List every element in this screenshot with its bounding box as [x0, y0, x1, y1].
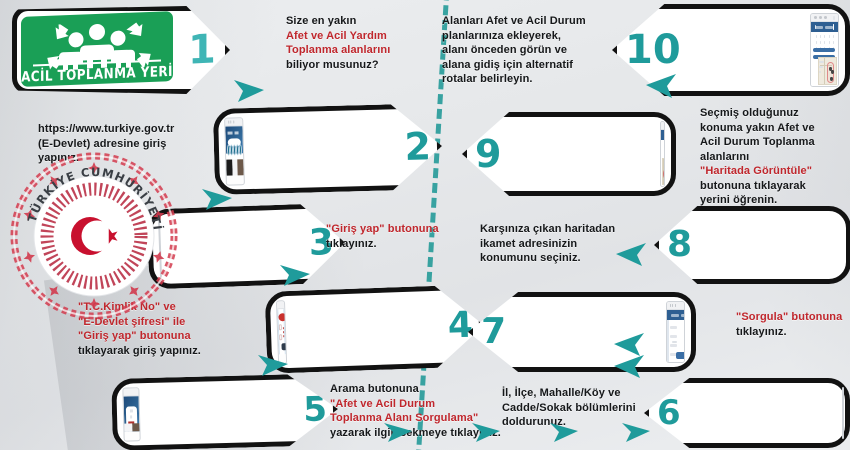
browser-body: [667, 320, 684, 363]
step-6-panel[interactable]: 6: [644, 378, 850, 448]
browser-body: [225, 126, 243, 175]
screenshot-map-table: [810, 13, 839, 87]
step-7-panel[interactable]: 7: [468, 292, 696, 372]
step-5-line-2: "Afet ve Acil Durum: [330, 397, 530, 412]
screenshot-query-form: [666, 301, 685, 363]
step-9-line-7: yerini öğrenin.: [700, 193, 850, 208]
step-9-line-1: Seçmiş olduğunuz: [700, 106, 850, 121]
step-2-line-2: (E-Devlet) adresine giriş: [38, 137, 220, 152]
step-1-line-2: Afet ve Acil Yardım: [286, 29, 436, 44]
step-9-line-3: Acil Durum Toplanma: [700, 135, 850, 150]
step-10-line-4: alana gidiş için alternatif: [442, 58, 617, 73]
step-3-line-2: tıklayınız.: [326, 237, 456, 252]
step-7-text: "Sorgula" butonuna tıklayınız.: [736, 310, 850, 339]
browser-navbar: [661, 130, 665, 140]
news-strip: [124, 424, 139, 432]
step-5-line-1: Arama butonuna: [330, 382, 530, 397]
step-6-line-2: Cadde/Sokak bölümlerini: [502, 401, 652, 416]
step-9-line-2: konuma yakın Afet ve: [700, 121, 850, 136]
infographic-canvas: ACİL TOPLANMA YERİ 1 Size en yakın Afet …: [0, 0, 850, 450]
step-8-line-3: konumunu seçiniz.: [480, 251, 620, 266]
step-10-line-3: alanı önceden görün ve: [442, 43, 617, 58]
step-8-line-2: ikamet adresinizin: [480, 237, 620, 252]
step-number-7: 7: [481, 314, 506, 350]
screenshot-search-box: [122, 387, 140, 441]
edevlet-hero: [225, 126, 243, 154]
news-strip: [226, 160, 243, 176]
map-note-text: [664, 166, 665, 182]
step-8-text: Karşınıza çıkan haritadan ikamet adresin…: [480, 222, 620, 266]
step-3-line-1: "Giriş yap" butonuna: [326, 222, 456, 237]
step-9-line-6: butonuna tıklayarak: [700, 179, 850, 194]
step-10-text: Alanları Afet ve Acil Durum planlarınıza…: [442, 14, 617, 87]
browser-chrome: [811, 14, 838, 22]
step-3-text: "Giriş yap" butonuna tıklayınız.: [326, 222, 456, 251]
step-8-line-1: Karşınıza çıkan haritadan: [480, 222, 620, 237]
step-1-line-3: Toplanma alanlarını: [286, 43, 436, 58]
browser-navbar: [667, 310, 684, 320]
step-1-emergency-sign-panel: ACİL TOPLANMA YERİ 1: [12, 6, 230, 94]
step-2-panel[interactable]: 2: [213, 103, 443, 195]
step-number-6: 6: [657, 396, 681, 430]
step-9-line-4: alanlarını: [700, 150, 850, 165]
step-1-line-4: biliyor musunuz?: [286, 58, 436, 73]
step-1-text: Size en yakın Afet ve Acil Yardım Toplan…: [286, 14, 436, 72]
step-number-8: 8: [667, 227, 692, 263]
step-number-1: 1: [188, 29, 216, 70]
step-9-panel[interactable]: 9: [462, 112, 676, 196]
browser-navbar: [843, 396, 844, 406]
official-seal: TÜRKİYE CUMHURİYETİ BİNGÖL VALİLİĞİ: [10, 152, 178, 320]
annotation-arrow: [667, 320, 684, 363]
browser-chrome: [843, 388, 844, 396]
browser-chrome: [667, 302, 684, 310]
step-number-2: 2: [404, 127, 431, 166]
step-10-line-2: planlarınıza ekleyerek,: [442, 29, 617, 44]
step-10-line-5: rotalar belirleyin.: [442, 72, 617, 87]
step-5-panel[interactable]: 5: [111, 373, 339, 450]
browser-body: [124, 396, 140, 431]
step-4-line-4: tıklayarak giriş yapınız.: [78, 344, 258, 359]
map-view-button[interactable]: [813, 48, 835, 52]
browser-chrome: [661, 122, 665, 130]
step-number-4: 4: [447, 308, 473, 345]
step-7-line-2: tıklayınız.: [736, 325, 850, 340]
service-shortcuts[interactable]: [227, 144, 242, 155]
step-9-text: Seçmiş olduğunuz konuma yakın Afet ve Ac…: [700, 106, 850, 208]
browser-body: [811, 32, 838, 87]
seal-graphic: TÜRKİYE CUMHURİYETİ BİNGÖL VALİLİĞİ: [10, 152, 178, 320]
step-4-line-3: "Giriş yap" butonuna: [78, 329, 258, 344]
browser-body: [661, 140, 664, 187]
step-1-line-1: Size en yakın: [286, 14, 436, 29]
screenshot-map-results: [660, 121, 665, 187]
step-number-10: 10: [625, 30, 681, 70]
step-2-line-1: https://www.turkiye.gov.tr: [38, 122, 220, 137]
step-9-line-5: "Haritada Görüntüle": [700, 164, 850, 179]
browser-navbar: [811, 22, 838, 32]
step-8-panel[interactable]: 8: [654, 206, 850, 284]
browser-body: [277, 309, 286, 354]
step-number-9: 9: [475, 135, 501, 173]
screenshot-edevlet-home: [224, 117, 245, 185]
step-6-line-1: İl, İlçe, Mahalle/Köy ve: [502, 386, 652, 401]
step-7-line-1: "Sorgula" butonuna: [736, 310, 850, 325]
step-number-5: 5: [303, 392, 328, 427]
step-10-line-1: Alanları Afet ve Acil Durum: [442, 14, 617, 29]
annotation-arrows: [277, 309, 286, 354]
sign-green-plate: ACİL TOPLANMA YERİ: [21, 11, 173, 87]
map-legend-text: [814, 58, 830, 79]
browser-chrome: [277, 301, 284, 309]
step-4-panel[interactable]: 4: [265, 284, 486, 374]
annotation-callout: [842, 417, 843, 426]
screenshot-address-form: [842, 387, 844, 439]
